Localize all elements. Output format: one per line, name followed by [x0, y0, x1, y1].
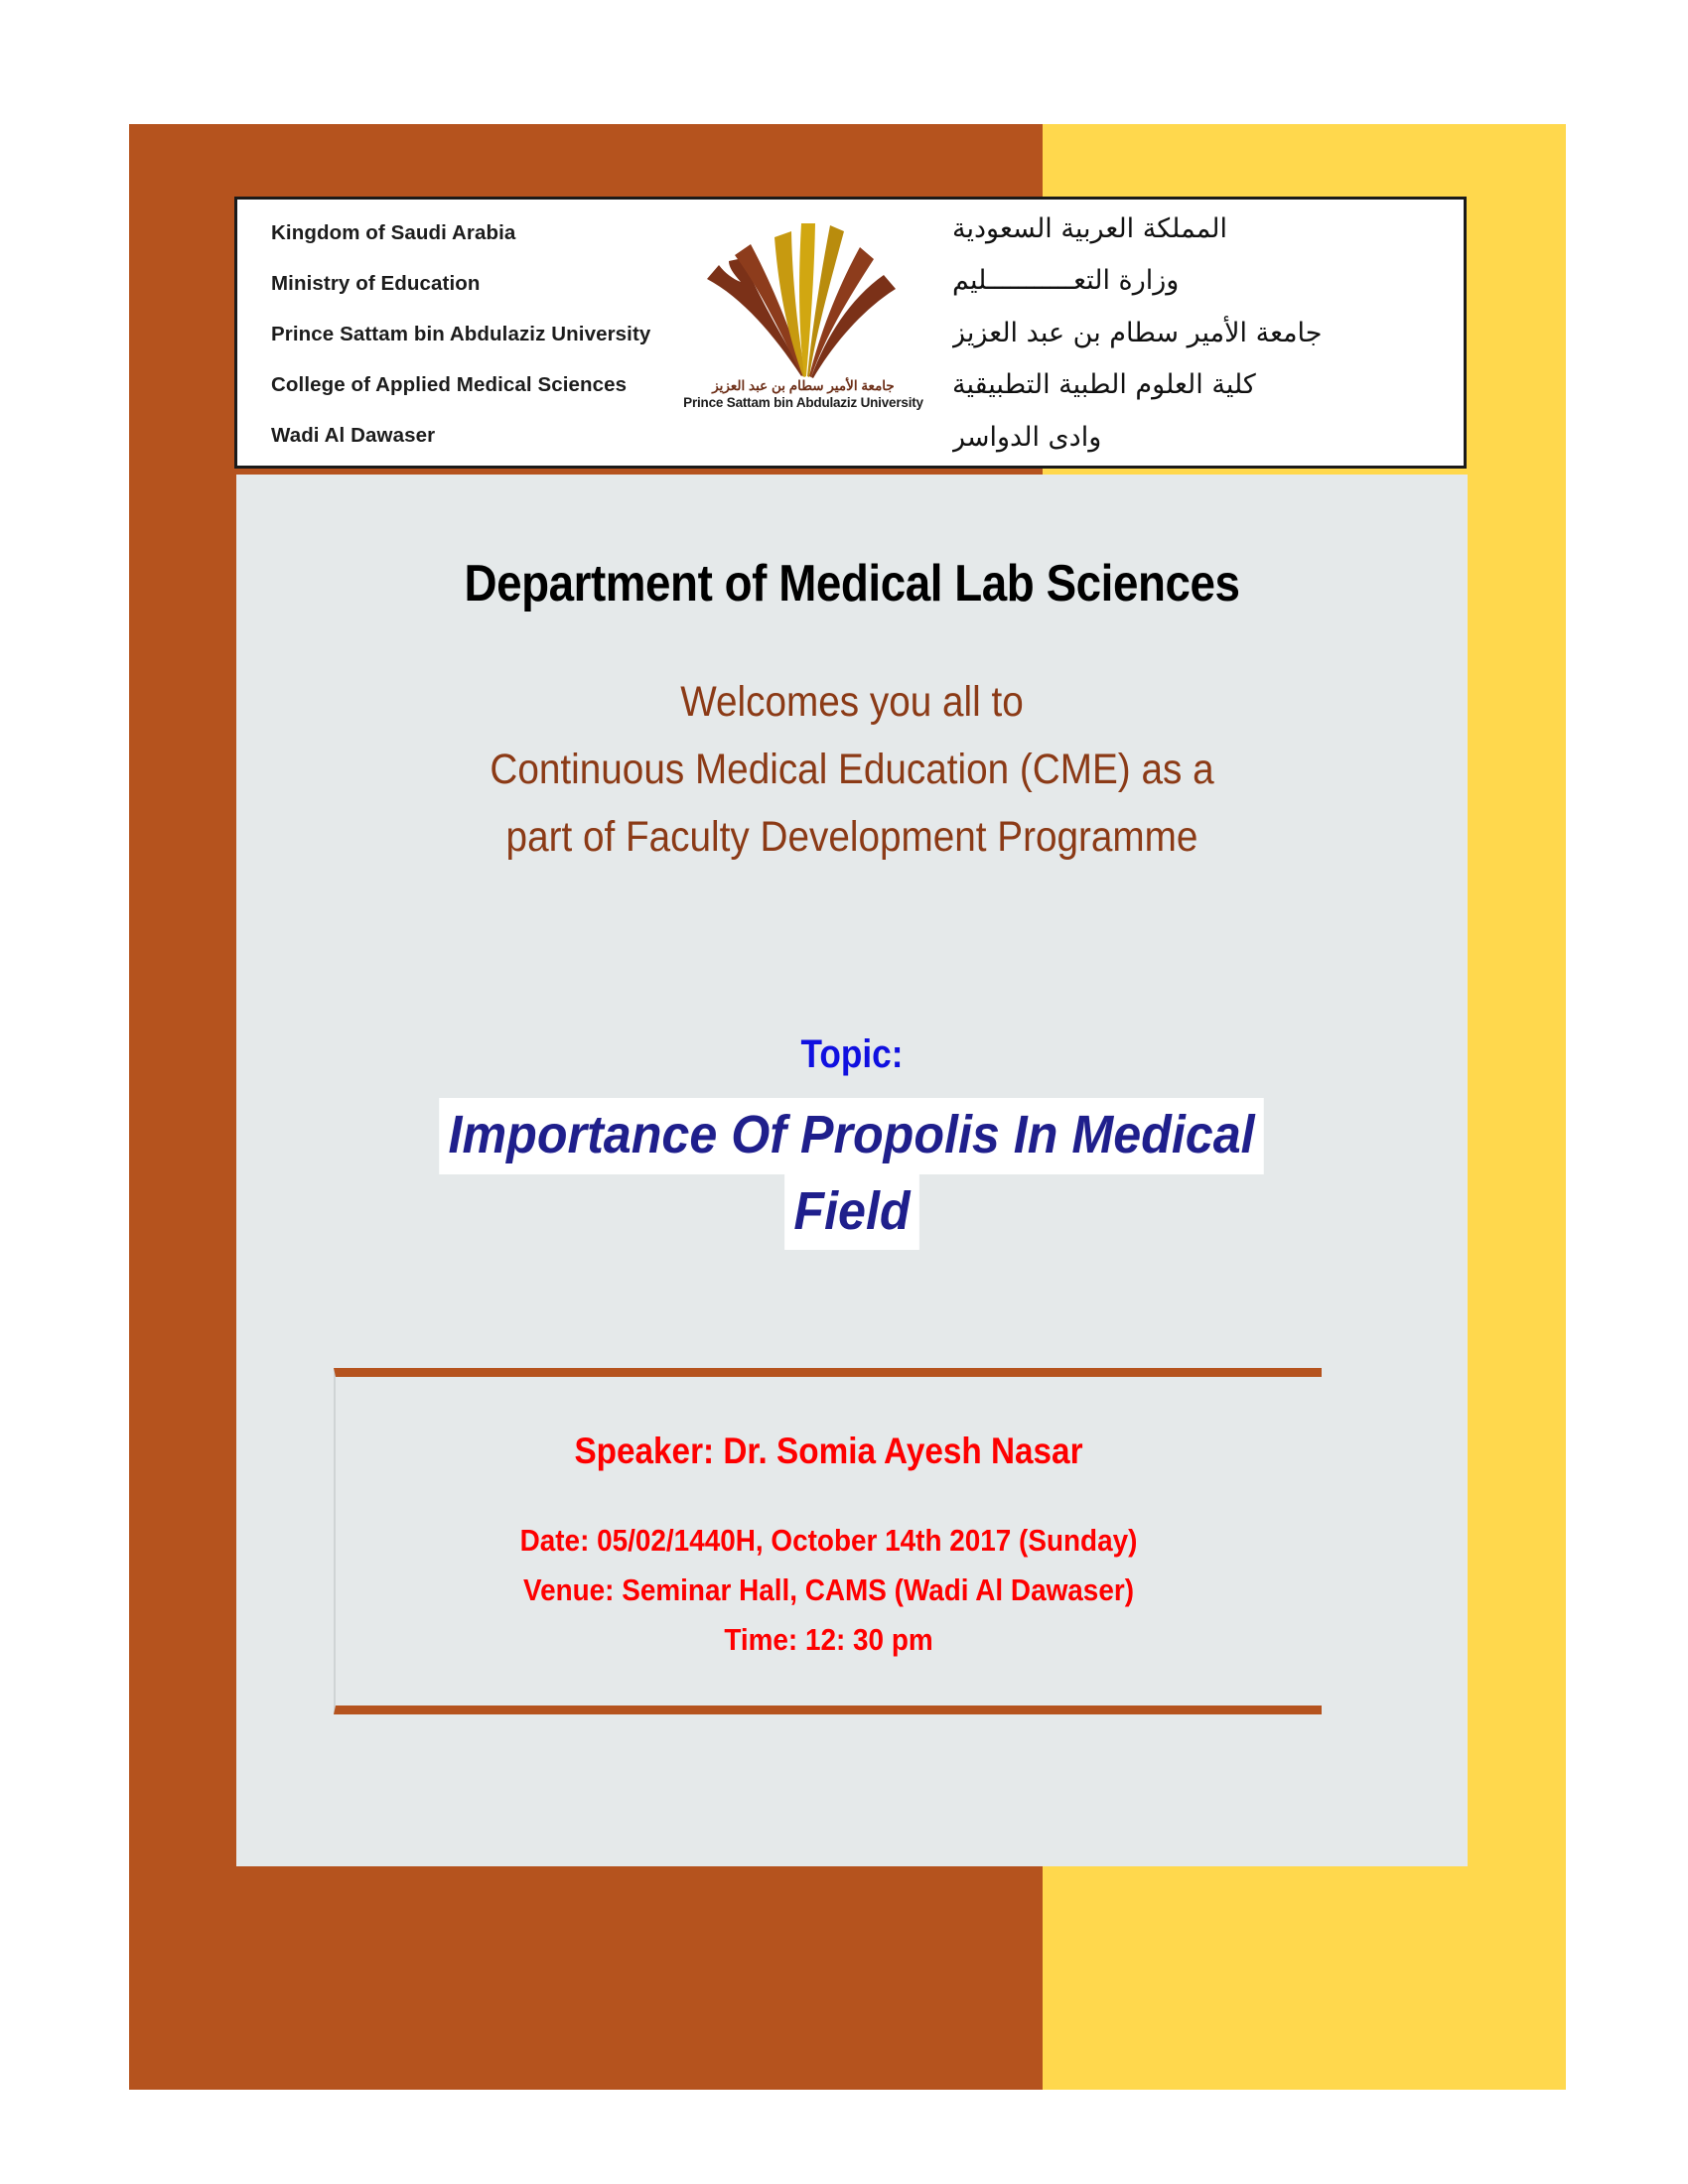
department-title: Department of Medical Lab Sciences [310, 554, 1393, 614]
topic-title: Importance Of Propolis In Medical Field [236, 1098, 1468, 1250]
topic-label: Topic: [310, 1032, 1393, 1077]
welcome-line-1: Welcomes you all to [298, 669, 1406, 737]
welcome-line-3: part of Faculty Development Programme [298, 804, 1406, 872]
logo-arabic-caption: جامعة الأمير سطام بن عبد العزيز [712, 378, 895, 394]
letterhead-en-line-4: College of Applied Medical Sciences [271, 373, 654, 397]
time-line: Time: 12: 30 pm [385, 1615, 1273, 1665]
letterhead-english-column: Kingdom of Saudi Arabia Ministry of Educ… [237, 200, 654, 466]
poster-content-panel: Department of Medical Lab Sciences Welco… [236, 475, 1468, 1866]
topic-title-line-2: Field [784, 1174, 919, 1251]
university-fan-logo-icon [689, 213, 917, 382]
letterhead-ar-line-2: وزارة التعـــــــــــليم [952, 267, 1179, 295]
venue-line: Venue: Seminar Hall, CAMS (Wadi Al Dawas… [385, 1566, 1273, 1615]
event-details-box: Speaker: Dr. Somia Ayesh Nasar Date: 05/… [334, 1368, 1322, 1714]
letterhead-ar-line-5: وادى الدواسر [952, 424, 1101, 452]
letterhead-header: Kingdom of Saudi Arabia Ministry of Educ… [234, 197, 1467, 469]
letterhead-en-line-3: Prince Sattam bin Abdulaziz University [271, 323, 654, 346]
letterhead-arabic-column: المملكة العربية السعودية وزارة التعـــــ… [952, 200, 1464, 466]
letterhead-logo-column: جامعة الأمير سطام بن عبد العزيز Prince S… [654, 200, 952, 466]
topic-title-line-1: Importance Of Propolis In Medical [440, 1098, 1265, 1174]
letterhead-ar-line-1: المملكة العربية السعودية [952, 215, 1227, 243]
welcome-message: Welcomes you all to Continuous Medical E… [236, 669, 1468, 872]
letterhead-ar-line-4: كلية العلوم الطبية التطبيقية [952, 371, 1256, 399]
date-line: Date: 05/02/1440H, October 14th 2017 (Su… [385, 1516, 1273, 1566]
logo-english-caption: Prince Sattam bin Abdulaziz University [683, 395, 923, 410]
letterhead-en-line-1: Kingdom of Saudi Arabia [271, 221, 654, 245]
welcome-line-2: Continuous Medical Education (CME) as a [298, 737, 1406, 804]
speaker-line: Speaker: Dr. Somia Ayesh Nasar [385, 1431, 1273, 1472]
letterhead-ar-line-3: جامعة الأمير سطام بن عبد العزيز [952, 320, 1322, 347]
letterhead-en-line-2: Ministry of Education [271, 272, 654, 296]
letterhead-en-line-5: Wadi Al Dawaser [271, 424, 654, 448]
